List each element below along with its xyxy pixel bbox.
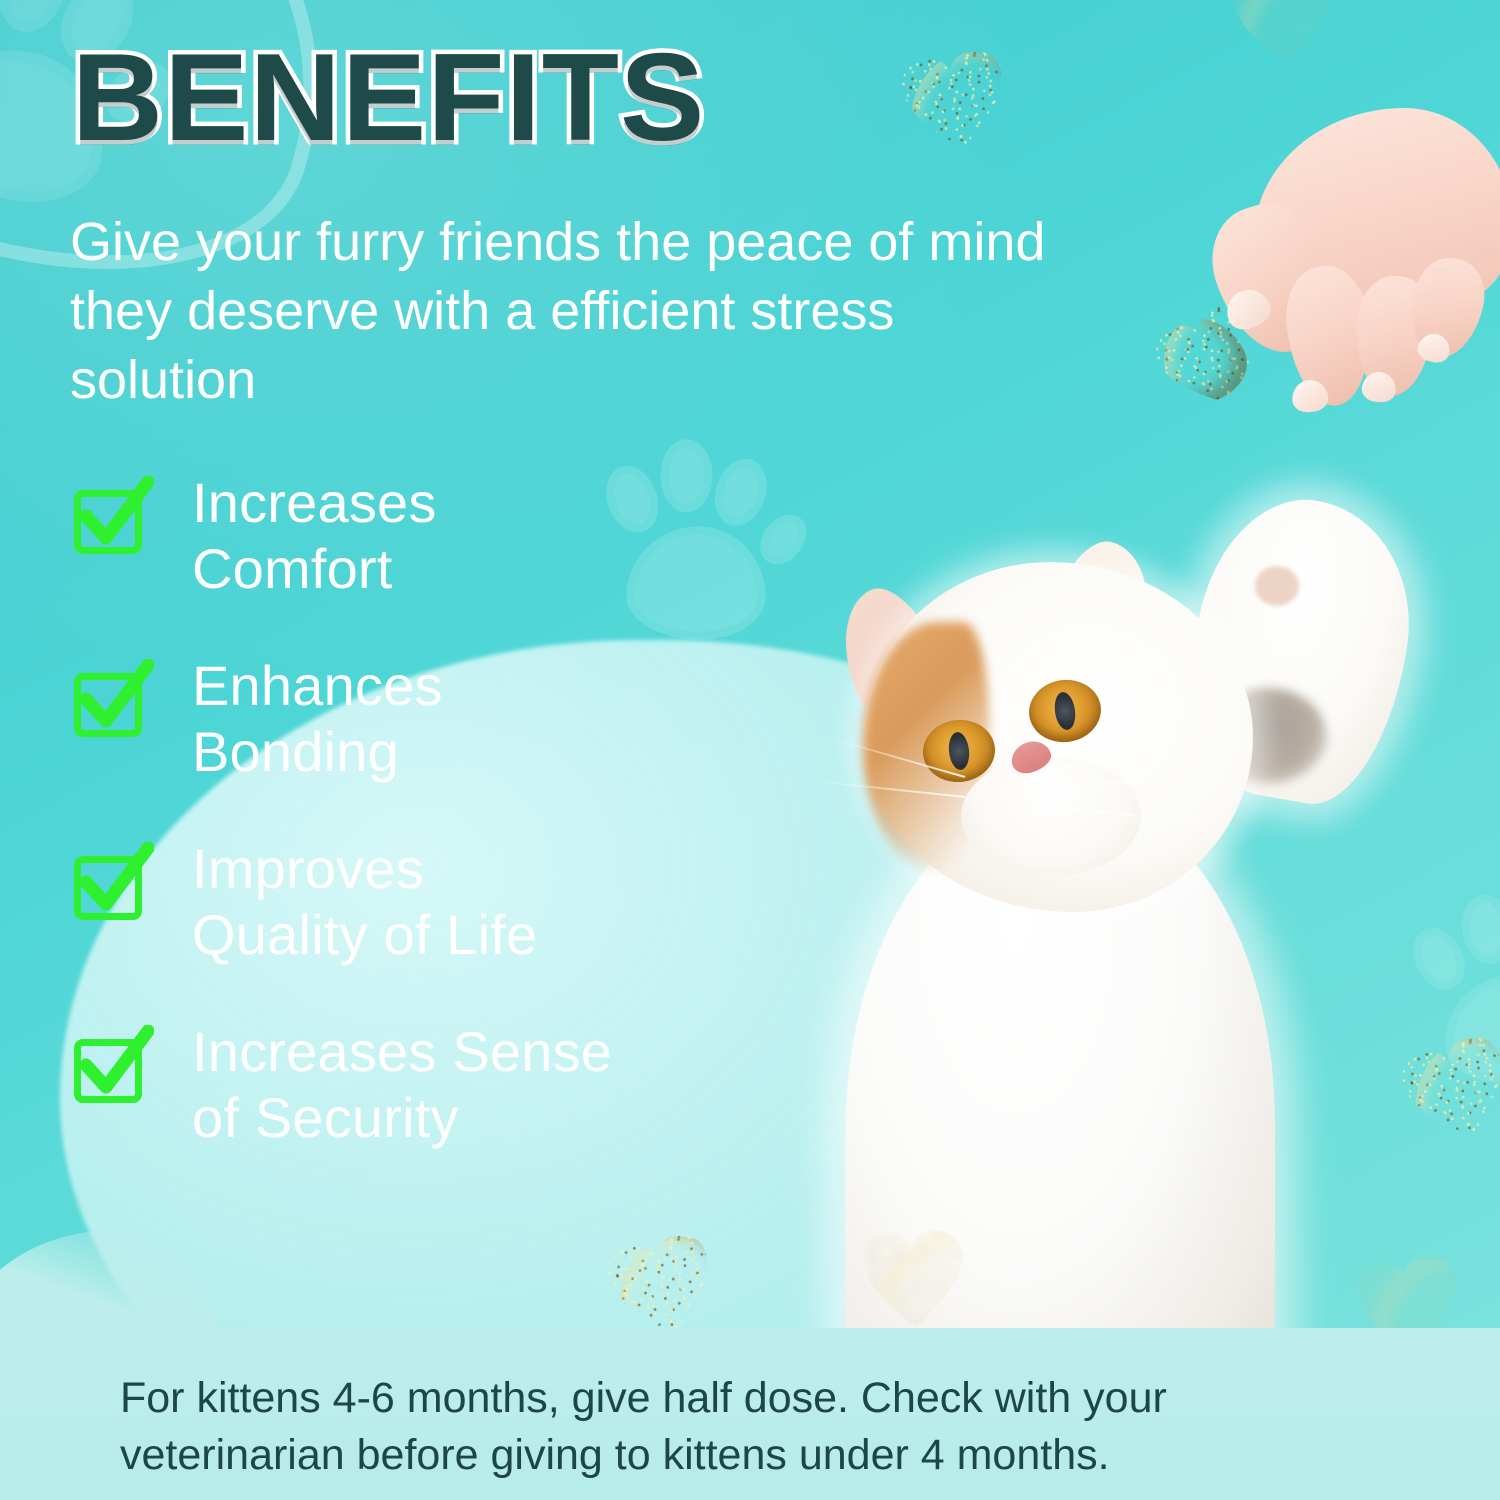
promo-banner: BENEFITS Give your furry friends the pea… xyxy=(0,0,1500,1500)
list-item: Increases Comfort xyxy=(72,470,772,601)
list-item-line2: of Security xyxy=(192,1086,459,1149)
list-item-line1: Improves xyxy=(192,837,424,900)
green-check-icon xyxy=(72,482,150,556)
list-item-line2: Comfort xyxy=(192,537,393,600)
list-item-label: Increases Sense of Security xyxy=(192,1019,612,1150)
green-check-icon xyxy=(72,848,150,922)
list-item: Enhances Bonding xyxy=(72,653,772,784)
list-item-line2: Bonding xyxy=(192,720,399,783)
list-item: Increases Sense of Security xyxy=(72,1019,772,1150)
benefits-list: Increases Comfort Enhances Bonding xyxy=(72,470,772,1150)
green-check-icon xyxy=(72,665,150,739)
list-item-label: Enhances Bonding xyxy=(192,653,443,784)
green-check-icon xyxy=(72,1031,150,1105)
list-item-line2: Quality of Life xyxy=(192,903,537,966)
list-item-line1: Increases xyxy=(192,471,437,534)
list-item: Improves Quality of Life xyxy=(72,836,772,967)
list-item-label: Increases Comfort xyxy=(192,470,437,601)
list-item-label: Improves Quality of Life xyxy=(192,836,537,967)
page-subtitle: Give your furry friends the peace of min… xyxy=(70,208,1080,415)
list-item-line1: Increases Sense xyxy=(192,1020,612,1083)
list-item-line1: Enhances xyxy=(192,654,443,717)
disclaimer-text: For kittens 4-6 months, give half dose. … xyxy=(120,1370,1388,1484)
page-title: BENEFITS xyxy=(72,36,706,160)
